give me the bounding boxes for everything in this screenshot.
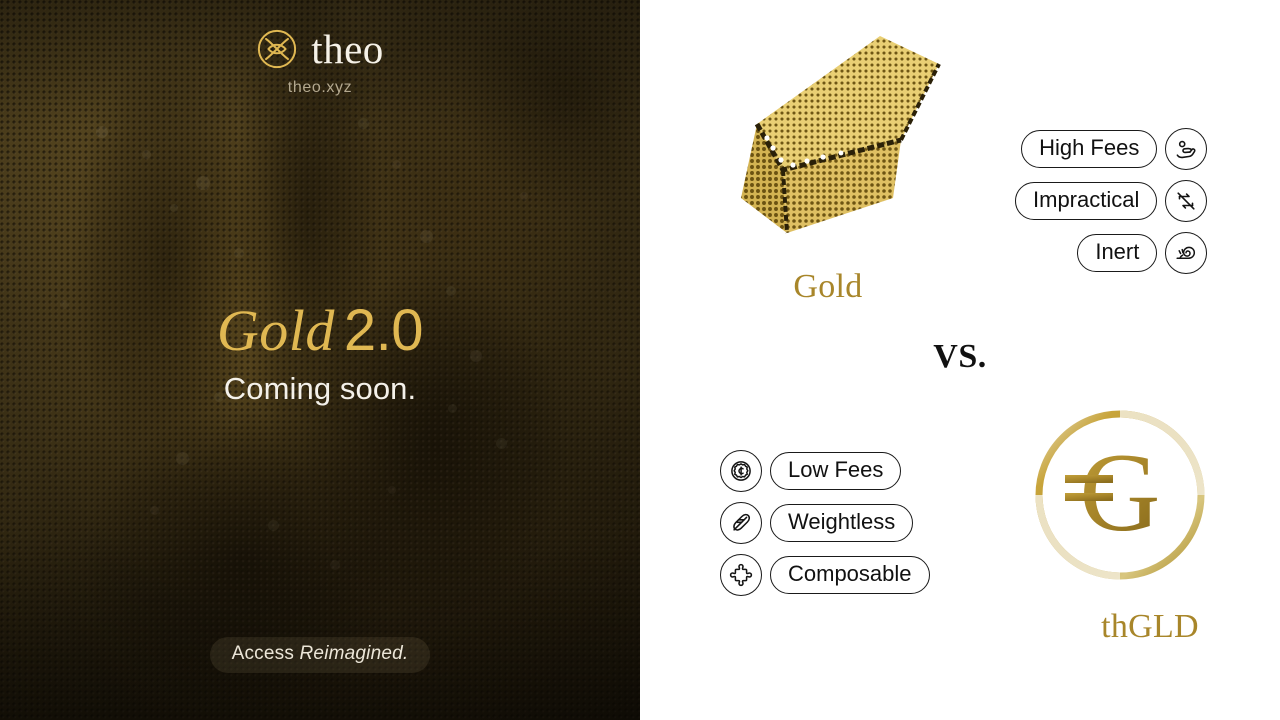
gold-attributes-list: High Fees Impractical (1015, 128, 1207, 274)
gold-asset-label: Gold (640, 268, 1016, 306)
comparison-panel: Gold High Fees Impractical (640, 0, 1280, 720)
attribute-row-impractical: Impractical (1015, 180, 1207, 222)
puzzle-piece-icon (720, 554, 762, 596)
hero-subtitle: Coming soon. (0, 371, 640, 407)
tagline-pill: Access Reimagined. (210, 637, 431, 673)
hero-title-version: 2.0 (344, 298, 423, 363)
attribute-pill-low-fees[interactable]: Low Fees (770, 452, 901, 491)
brand-name: theo (311, 29, 384, 70)
attribute-pill-high-fees[interactable]: High Fees (1021, 130, 1157, 169)
thgld-attributes-list: Low Fees Weightless (720, 450, 930, 596)
attribute-pill-weightless[interactable]: Weightless (770, 504, 913, 543)
attribute-row-inert: Inert (1077, 232, 1207, 274)
attribute-row-weightless: Weightless (720, 502, 913, 544)
cent-badge-icon (720, 450, 762, 492)
brand-url[interactable]: theo.xyz (288, 79, 352, 97)
attribute-pill-composable[interactable]: Composable (770, 556, 930, 595)
hand-coin-icon (1165, 128, 1207, 170)
brand-lockup[interactable]: theo (256, 28, 384, 70)
tagline-prefix: Access (232, 643, 300, 664)
thgld-coin-ring-g-icon: G (1030, 405, 1210, 585)
snail-icon (1165, 232, 1207, 274)
footer-tagline-wrap: Access Reimagined. (0, 637, 640, 673)
halftone-gold-bar-icon (695, 20, 995, 250)
hero-block: Gold2.0 Coming soon. (0, 300, 640, 407)
theo-circle-x-logo-icon (256, 28, 298, 70)
attribute-row-composable: Composable (720, 554, 930, 596)
left-hero-panel: theo theo.xyz Gold2.0 Coming soon. Acces… (0, 0, 640, 720)
versus-label: VS. (880, 338, 1040, 376)
page-title: Gold2.0 (0, 300, 640, 361)
attribute-pill-impractical[interactable]: Impractical (1015, 182, 1157, 221)
thgld-asset-label: thGLD (1020, 608, 1280, 646)
feather-icon (720, 502, 762, 544)
attribute-pill-inert[interactable]: Inert (1077, 234, 1157, 273)
attribute-row-low-fees: Low Fees (720, 450, 901, 492)
promo-split-screen: theo theo.xyz Gold2.0 Coming soon. Acces… (0, 0, 1280, 720)
attribute-row-high-fees: High Fees (1021, 128, 1207, 170)
tagline-emphasis: Reimagined. (300, 643, 409, 664)
brand-block: theo theo.xyz (0, 28, 640, 97)
hero-title-word: Gold (217, 298, 335, 363)
swap-arrows-crossed-out-icon (1165, 180, 1207, 222)
